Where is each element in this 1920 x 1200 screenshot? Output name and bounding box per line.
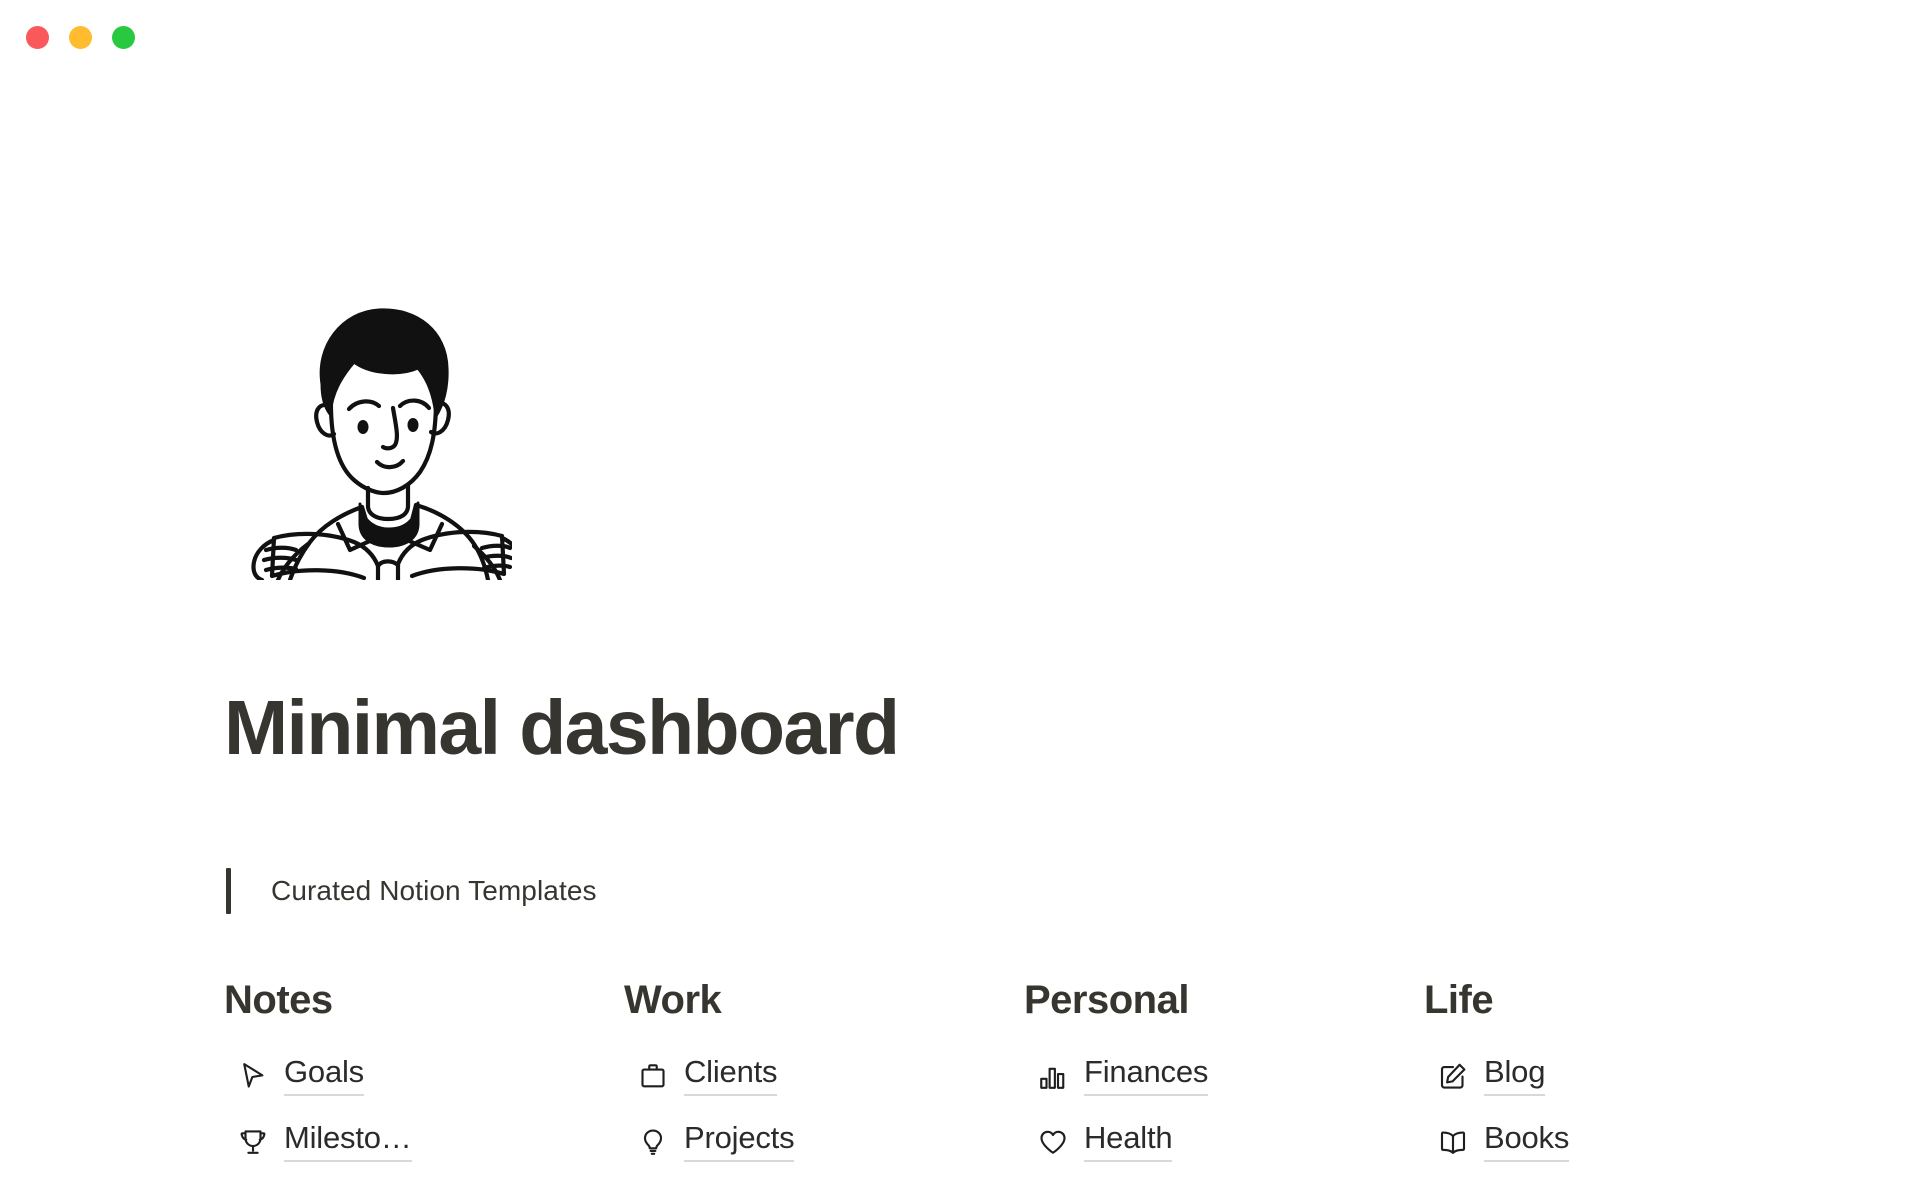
lightbulb-icon bbox=[636, 1125, 670, 1159]
link-columns-grid: Notes Goals bbox=[224, 980, 1844, 1186]
link-label-books: Books bbox=[1484, 1122, 1569, 1162]
link-column-notes: Notes Goals bbox=[224, 980, 624, 1186]
column-heading-work: Work bbox=[624, 980, 1024, 1020]
link-column-life: Life Blog Books bbox=[1424, 980, 1824, 1186]
person-reading-book-illustration bbox=[250, 288, 512, 580]
briefcase-icon bbox=[636, 1059, 670, 1093]
link-row-clients[interactable]: Clients bbox=[636, 1054, 777, 1098]
link-label-clients: Clients bbox=[684, 1056, 777, 1096]
link-row-books[interactable]: Books bbox=[1436, 1120, 1569, 1164]
bar-chart-icon bbox=[1036, 1059, 1070, 1093]
link-row-goals[interactable]: Goals bbox=[236, 1054, 364, 1098]
callout-text: Curated Notion Templates bbox=[271, 875, 597, 907]
link-label-projects: Projects bbox=[684, 1122, 794, 1162]
link-row-finances[interactable]: Finances bbox=[1036, 1054, 1208, 1098]
link-label-finances: Finances bbox=[1084, 1056, 1208, 1096]
link-label-blog: Blog bbox=[1484, 1056, 1545, 1096]
link-label-health: Health bbox=[1084, 1122, 1172, 1162]
quote-bar bbox=[226, 868, 231, 914]
link-column-work: Work Clients Pro bbox=[624, 980, 1024, 1186]
link-row-milestones[interactable]: Milesto… bbox=[236, 1120, 412, 1164]
column-heading-life: Life bbox=[1424, 980, 1824, 1020]
column-heading-personal: Personal bbox=[1024, 980, 1424, 1020]
link-row-health[interactable]: Health bbox=[1036, 1120, 1172, 1164]
link-column-personal: Personal Finances Health bbox=[1024, 980, 1424, 1186]
link-row-blog[interactable]: Blog bbox=[1436, 1054, 1545, 1098]
callout-quote: Curated Notion Templates bbox=[226, 864, 597, 918]
page-content: Minimal dashboard Curated Notion Templat… bbox=[0, 0, 1920, 1200]
pencil-square-icon bbox=[1436, 1059, 1470, 1093]
link-label-goals: Goals bbox=[284, 1056, 364, 1096]
open-book-icon bbox=[1436, 1125, 1470, 1159]
link-label-milestones: Milesto… bbox=[284, 1122, 412, 1162]
link-row-projects[interactable]: Projects bbox=[636, 1120, 794, 1164]
page-title: Minimal dashboard bbox=[224, 688, 898, 769]
trophy-icon bbox=[236, 1125, 270, 1159]
heart-icon bbox=[1036, 1125, 1070, 1159]
cursor-arrow-icon bbox=[236, 1059, 270, 1093]
column-heading-notes: Notes bbox=[224, 980, 624, 1020]
